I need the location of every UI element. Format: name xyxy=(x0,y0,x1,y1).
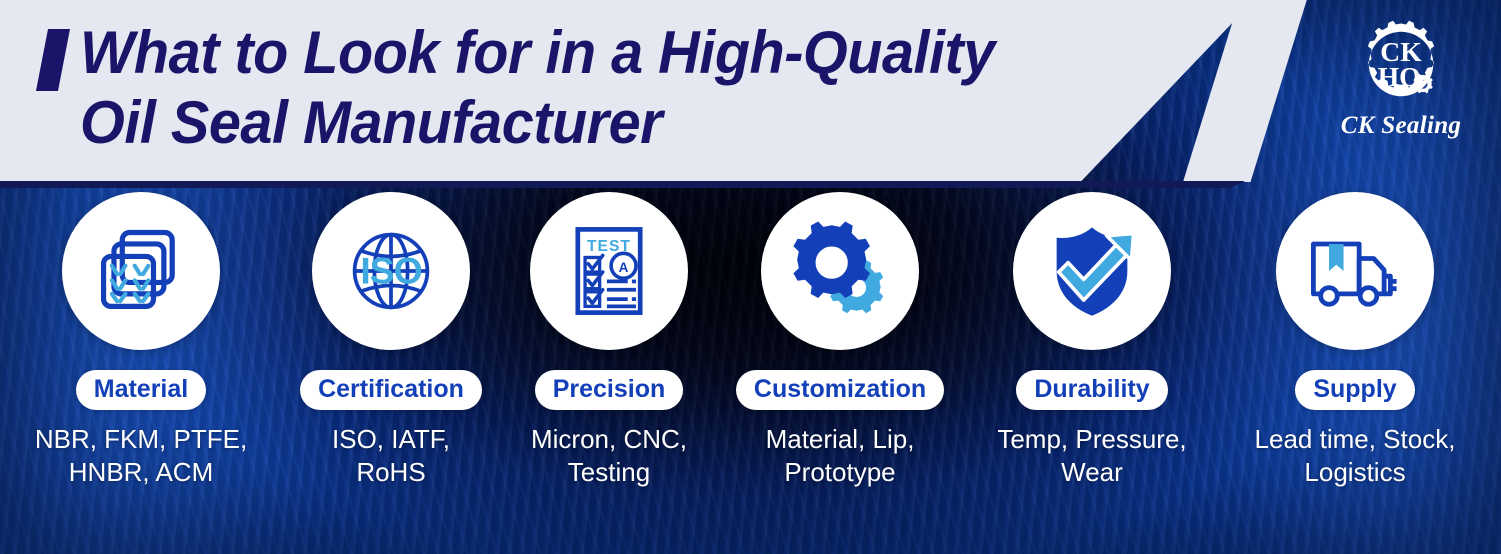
page-title: What to Look for in a High-Quality Oil S… xyxy=(80,18,1170,158)
test-report-icon: TEST A xyxy=(557,219,661,323)
card-description-durability: Temp, Pressure, Wear xyxy=(997,423,1186,489)
icon-circle-durability xyxy=(1013,192,1171,350)
card-material[interactable]: Material NBR, FKM, PTFE, HNBR, ACM xyxy=(20,192,262,489)
shield-arrow-check-icon xyxy=(1040,219,1144,323)
card-certification[interactable]: ISO Certification ISO, IATF, RoHS xyxy=(272,192,510,489)
card-label-customization: Customization xyxy=(736,370,944,410)
card-label-precision: Precision xyxy=(535,370,684,410)
card-label-supply: Supply xyxy=(1295,370,1414,410)
gears-icon xyxy=(788,219,892,323)
card-description-precision: Micron, CNC, Testing xyxy=(531,423,687,489)
infographic-root: What to Look for in a High-Quality Oil S… xyxy=(0,0,1501,554)
icon-circle-material xyxy=(62,192,220,350)
page-title-line-1: What to Look for in a High-Quality xyxy=(80,18,1126,88)
card-durability[interactable]: Durability Temp, Pressure, Wear xyxy=(968,192,1216,489)
iso-globe-icon: ISO xyxy=(339,219,443,323)
card-precision[interactable]: TEST A xyxy=(513,192,705,489)
svg-text:A: A xyxy=(619,260,629,275)
header-underline xyxy=(0,181,1245,188)
svg-text:ISO: ISO xyxy=(360,249,421,291)
icon-circle-customization xyxy=(761,192,919,350)
header-band: What to Look for in a High-Quality Oil S… xyxy=(0,0,1501,188)
card-label-durability: Durability xyxy=(1016,370,1167,410)
card-label-material: Material xyxy=(76,370,206,410)
brand-wordmark: CK Sealing xyxy=(1341,112,1461,140)
card-label-certification: Certification xyxy=(300,370,482,410)
card-description-material: NBR, FKM, PTFE, HNBR, ACM xyxy=(35,423,247,489)
icon-circle-supply xyxy=(1276,192,1434,350)
icon-circle-precision: TEST A xyxy=(530,192,688,350)
stacked-sheets-icon xyxy=(89,219,193,323)
card-customization[interactable]: Customization Material, Lip, Prototype xyxy=(716,192,964,489)
icon-circle-certification: ISO xyxy=(312,192,470,350)
gear-logo-icon: CK HQ xyxy=(1355,18,1447,110)
card-supply[interactable]: Supply Lead time, Stock, Logistics xyxy=(1228,192,1482,489)
brand-logo: CK HQ CK Sealing xyxy=(1312,18,1490,166)
card-description-certification: ISO, IATF, RoHS xyxy=(332,423,450,489)
card-description-customization: Material, Lip, Prototype xyxy=(766,423,915,489)
delivery-truck-icon xyxy=(1303,219,1407,323)
page-title-line-2: Oil Seal Manufacturer xyxy=(80,88,1126,158)
feature-cards-row: Material NBR, FKM, PTFE, HNBR, ACM xyxy=(0,192,1501,554)
card-description-supply: Lead time, Stock, Logistics xyxy=(1255,423,1456,489)
